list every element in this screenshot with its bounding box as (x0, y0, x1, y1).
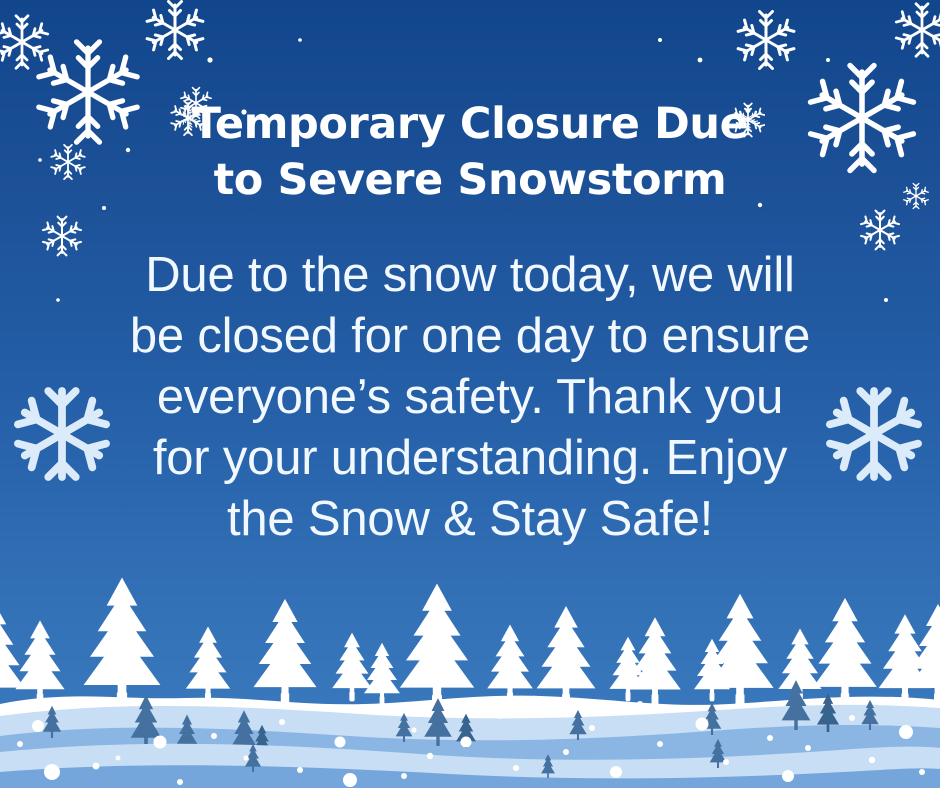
winter-closure-poster: Temporary Closure Due to Severe Snowstor… (0, 0, 940, 788)
winter-landscape (0, 0, 940, 788)
